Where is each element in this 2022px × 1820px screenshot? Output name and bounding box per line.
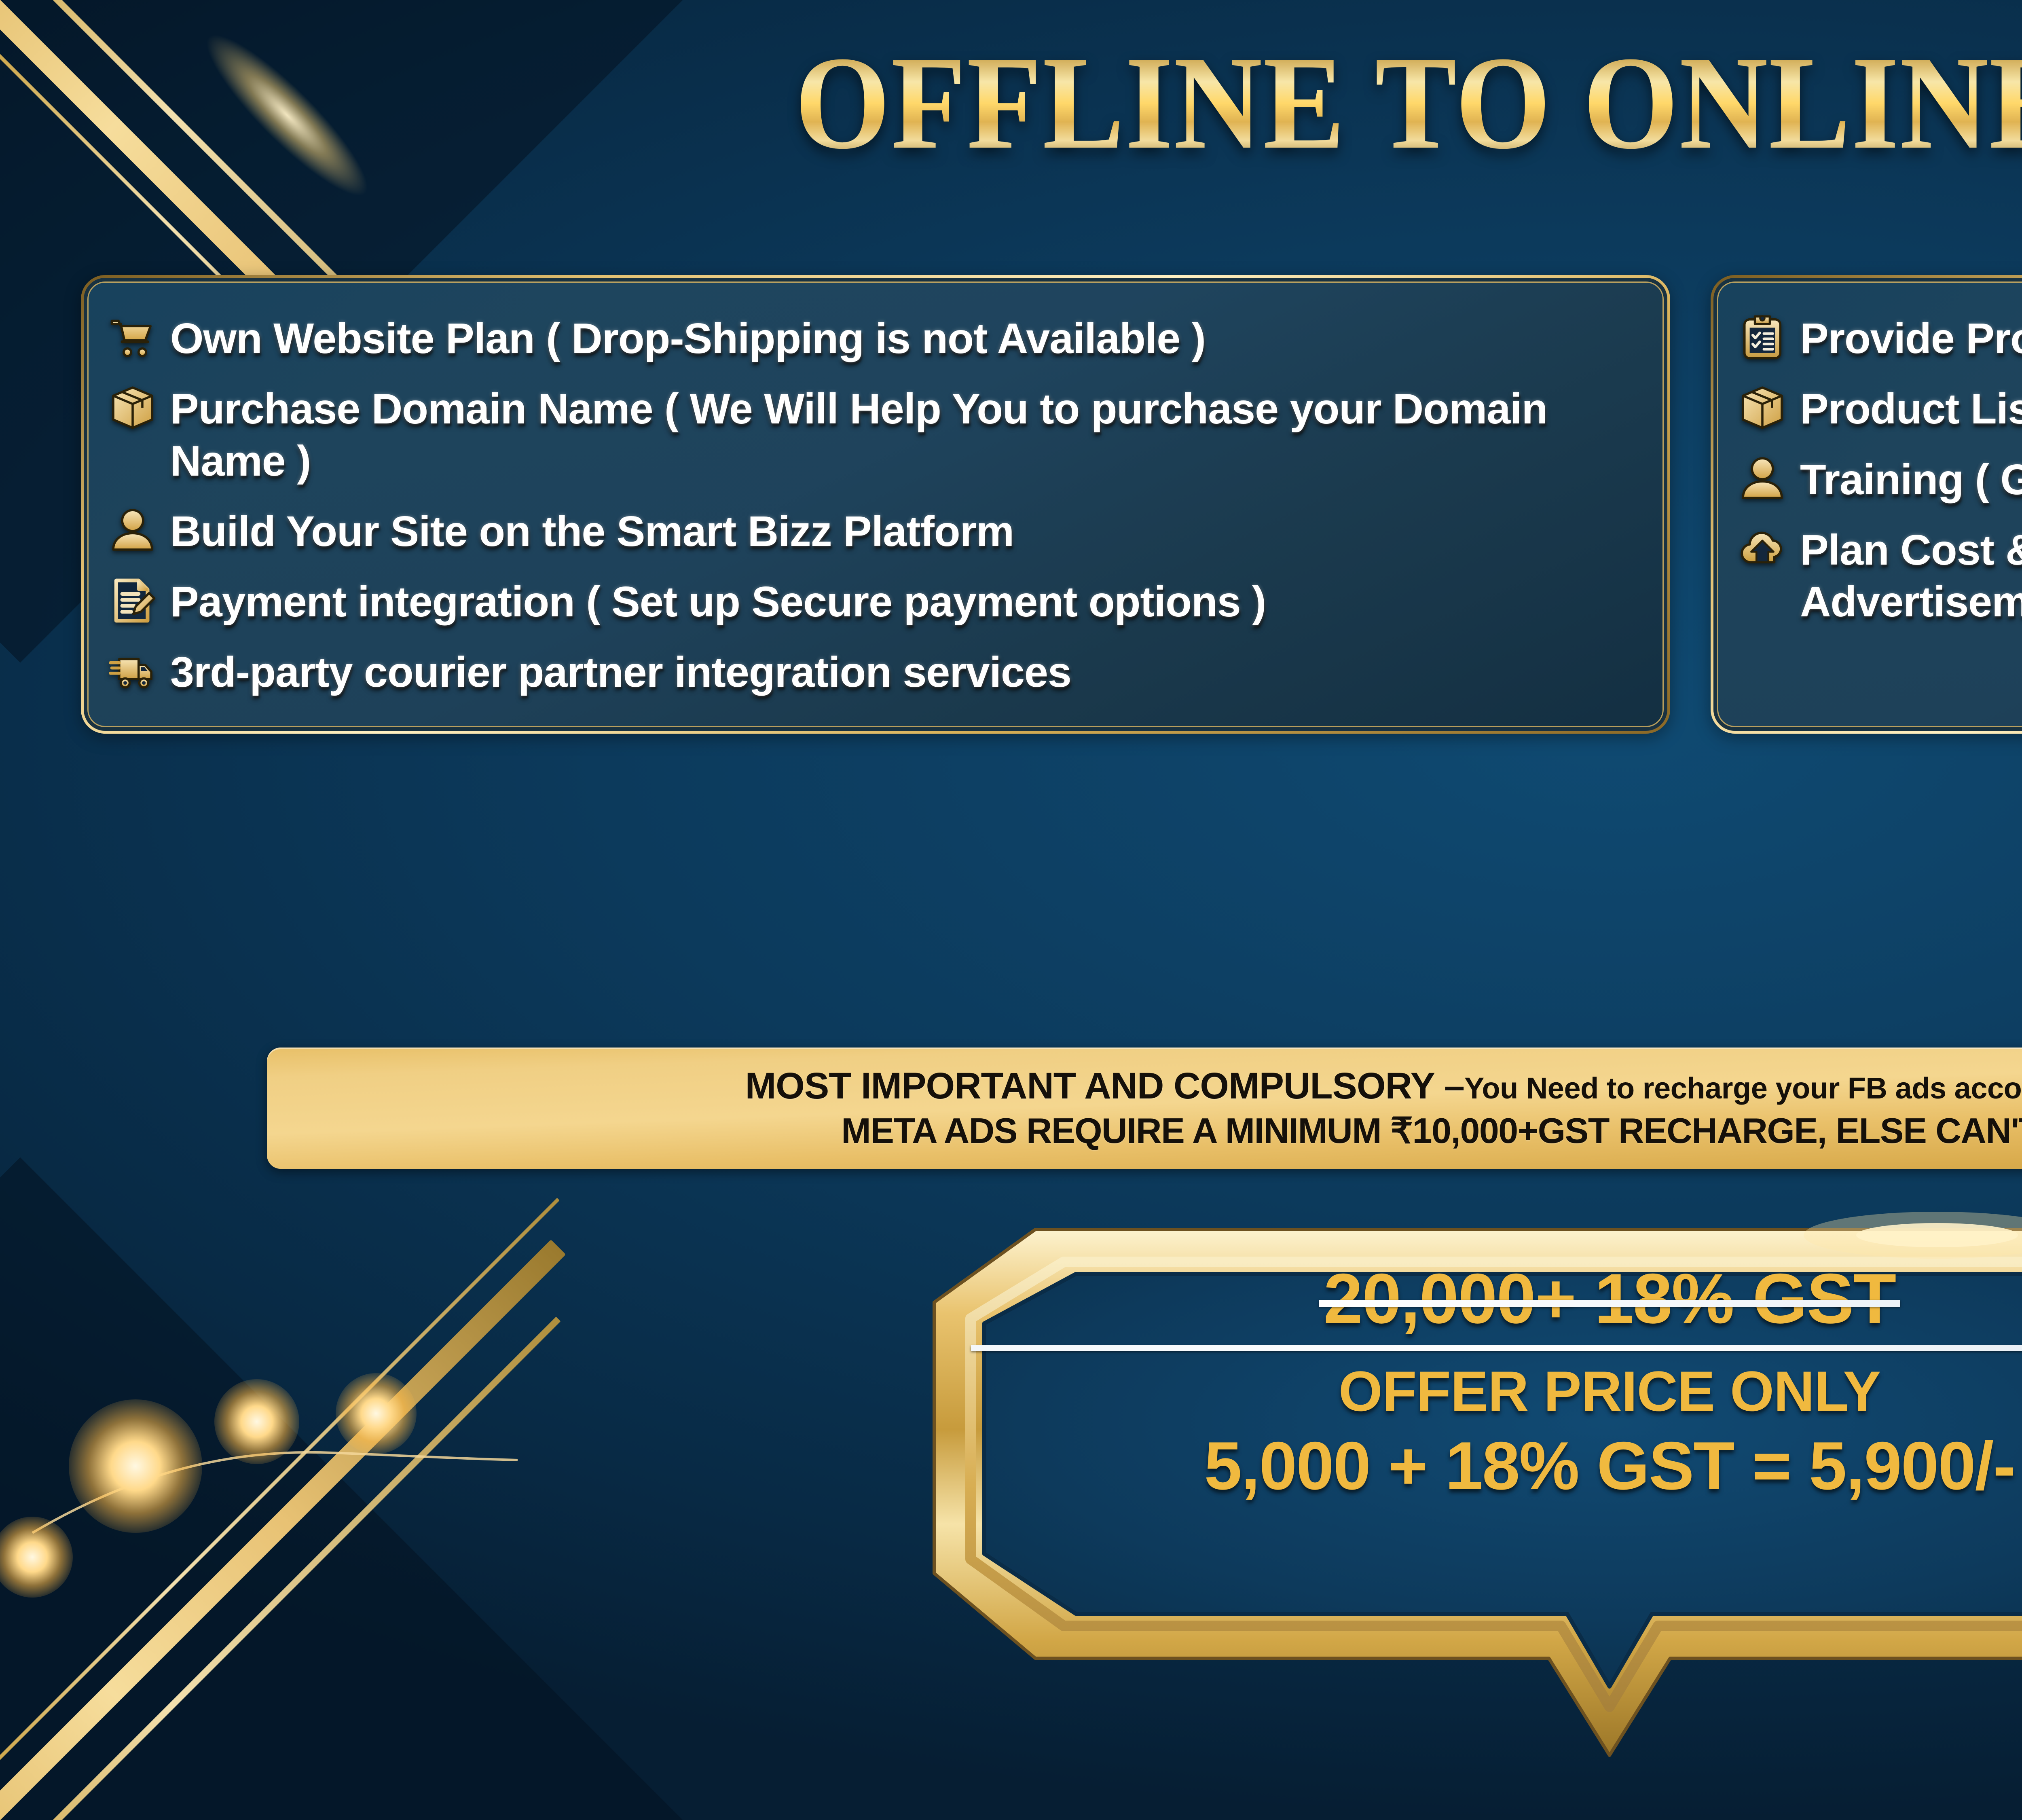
list-item: 3rd-party courier partner integration se…: [109, 646, 1639, 698]
delivery-truck-icon: [109, 647, 157, 695]
right-feature-panel: Provide Product Info ( Client provides p…: [1711, 275, 2022, 734]
list-item: Training ( Get training for adding more …: [1739, 454, 2022, 506]
page-title: OFFLINE TO ONLINE PLAN: [129, 36, 2022, 170]
list-item-label: Product Listing ( We will List 20 produc…: [1800, 383, 2022, 435]
user-person-icon: [1739, 455, 1786, 502]
list-item: Product Listing ( We will List 20 produc…: [1739, 383, 2022, 435]
corner-wedge-bottom-left: [0, 1158, 764, 1820]
price-badge-content: 20,000+ 18% GST OFFER PRICE ONLY 5,000 +…: [1007, 1262, 2022, 1505]
old-price: 20,000+ 18% GST: [1324, 1262, 1896, 1336]
compulsory-notice-banner: MOST IMPORTANT AND COMPULSORY – You Need…: [267, 1048, 2022, 1169]
feature-panels: Own Website Plan ( Drop-Shipping is not …: [81, 275, 2022, 734]
price-badge: 20,000+ 18% GST OFFER PRICE ONLY 5,000 +…: [902, 1217, 2022, 1784]
user-person-icon: [109, 506, 157, 554]
notice-detail-text: You Need to recharge your FB ads account…: [1464, 1071, 2022, 1105]
list-item: Own Website Plan ( Drop-Shipping is not …: [109, 313, 1639, 364]
bokeh-light-3: [336, 1373, 417, 1454]
gold-diagonal-line-bottom-left-outer: [0, 1317, 560, 1820]
notice-strong-text: MOST IMPORTANT AND COMPULSORY –: [745, 1065, 1464, 1107]
list-item-label: Purchase Domain Name ( We Will Help You …: [170, 383, 1639, 487]
list-item-label: Plan Cost & Ads ( 5,000+ tax ( Plan Fee …: [1800, 524, 2022, 628]
shopping-cart-icon: [109, 313, 157, 361]
list-item-label: Provide Product Info ( Client provides p…: [1800, 313, 2022, 364]
list-item: Provide Product Info ( Client provides p…: [1739, 313, 2022, 364]
list-item: Build Your Site on the Smart Bizz Platfo…: [109, 506, 1639, 557]
offer-price-amount: 5,000 + 18% GST = 5,900/-: [1204, 1426, 2015, 1505]
list-item-label: 3rd-party courier partner integration se…: [170, 646, 1071, 698]
left-bullet-list: Own Website Plan ( Drop-Shipping is not …: [109, 313, 1639, 698]
package-box-icon: [109, 384, 157, 432]
list-item: Payment integration ( Set up Secure paym…: [109, 576, 1639, 628]
bokeh-light-4: [0, 1517, 73, 1598]
notice-second-line: META ADS REQUIRE A MINIMUM ₹10,000+GST R…: [841, 1110, 2022, 1151]
right-bullet-list: Provide Product Info ( Client provides p…: [1739, 313, 2022, 628]
list-item: Plan Cost & Ads ( 5,000+ tax ( Plan Fee …: [1739, 524, 2022, 628]
list-item-label: Build Your Site on the Smart Bizz Platfo…: [170, 506, 1014, 557]
bokeh-wire: [49, 1432, 493, 1537]
left-feature-panel: Own Website Plan ( Drop-Shipping is not …: [81, 275, 1670, 734]
clipboard-checklist-icon: [1739, 313, 1786, 361]
document-pencil-icon: [109, 577, 157, 624]
bokeh-light-1: [69, 1399, 202, 1533]
list-item-label: Own Website Plan ( Drop-Shipping is not …: [170, 313, 1206, 364]
offer-price-label: OFFER PRICE ONLY: [1339, 1361, 1880, 1421]
list-item: Purchase Domain Name ( We Will Help You …: [109, 383, 1639, 487]
list-item-label: Payment integration ( Set up Secure paym…: [170, 576, 1266, 628]
cloud-upload-icon: [1739, 525, 1786, 573]
price-divider: [971, 1345, 2022, 1351]
package-box-icon: [1739, 384, 1786, 432]
list-item-label: Training ( Get training for adding more …: [1800, 454, 2022, 506]
gold-diagonal-bar-bottom-left: [0, 1240, 566, 1820]
notice-first-line: MOST IMPORTANT AND COMPULSORY – You Need…: [745, 1065, 2022, 1107]
gold-diagonal-line-bottom-left-inner: [0, 1198, 560, 1820]
bokeh-light-2: [214, 1379, 299, 1464]
